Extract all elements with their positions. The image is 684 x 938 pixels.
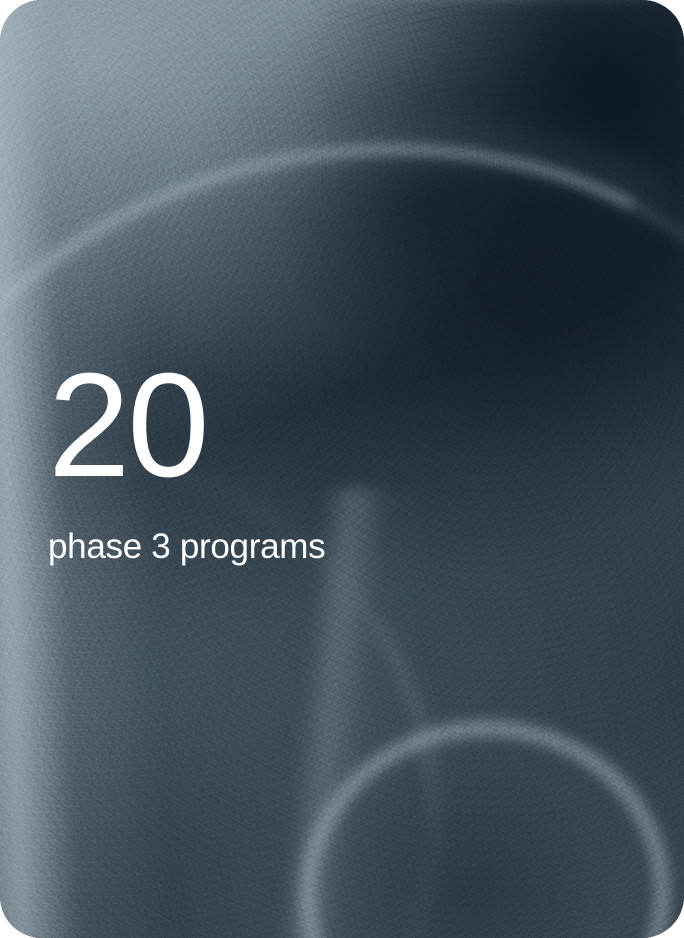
stat-label: phase 3 programs <box>48 528 325 567</box>
stat-content: 20 phase 3 programs <box>48 0 608 938</box>
background-secondary-streak <box>0 0 684 938</box>
background-major-arc <box>0 24 684 938</box>
stat-value: 20 <box>48 352 207 500</box>
background-ridge-band <box>0 0 684 938</box>
background-tint-overlay <box>0 0 684 938</box>
background-vertical-seam <box>0 488 684 938</box>
background-texture-coarse <box>0 0 684 938</box>
background-nodule-core <box>310 738 634 938</box>
background-dark-mass <box>0 0 684 938</box>
background-image-base <box>0 0 684 938</box>
background-nodule-halo-ring <box>287 707 684 938</box>
stat-card: 20 phase 3 programs <box>0 0 684 938</box>
background-arc-glow <box>0 0 684 938</box>
background-texture-fine <box>0 0 684 938</box>
background-lower-left-arc <box>0 380 505 938</box>
background-highlight-streak <box>0 0 684 938</box>
background-duotone-overlay <box>0 0 684 938</box>
